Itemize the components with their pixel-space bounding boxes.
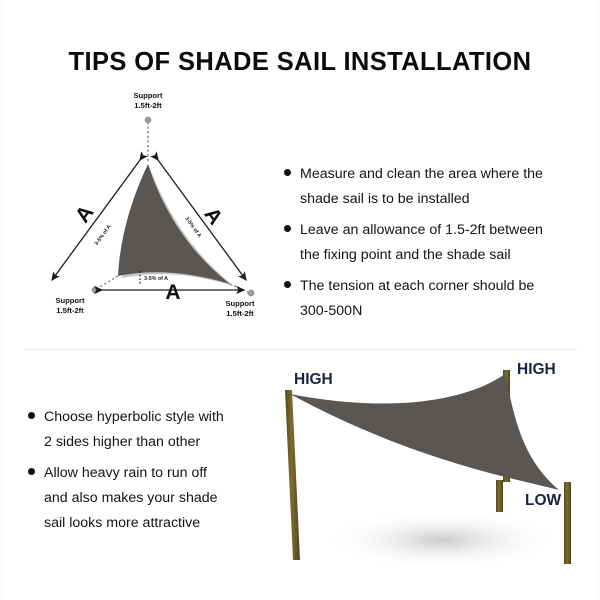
tip-text: Measure and clean the area where the sha… xyxy=(300,162,543,212)
left-edge-curve-note: 3-5% of A xyxy=(94,224,113,247)
right-edge-curve-note: 3-5% of A xyxy=(183,216,202,239)
label-high-left: HIGH xyxy=(294,371,333,388)
style-text: Choose hyperbolic style with 2 sides hig… xyxy=(44,405,224,455)
bullet-dot-icon xyxy=(284,225,291,232)
bottom-left-support-distance: 1.5ft-2ft xyxy=(56,306,84,315)
tip-text: Leave an allowance of 1.5-2ft between th… xyxy=(300,218,543,268)
list-item: Leave an allowance of 1.5-2ft between th… xyxy=(284,218,596,268)
bottom-edge-dimension-label: A xyxy=(165,281,180,304)
top-support-label: Support xyxy=(133,91,163,100)
page-left-edge xyxy=(0,0,3,600)
label-low: LOW xyxy=(525,492,562,509)
bullet-dot-icon xyxy=(28,412,35,419)
post-left xyxy=(285,390,300,560)
installation-tips-list: Measure and clean the area where the sha… xyxy=(284,162,596,330)
shade-sail-style-list: Choose hyperbolic style with 2 sides hig… xyxy=(28,405,278,542)
bottom-edge-curve-note: 3-5% of A xyxy=(144,276,168,282)
bottom-left-support-label: Support xyxy=(55,296,85,305)
bullet-dot-icon xyxy=(28,468,35,475)
bottom-right-support-label: Support xyxy=(225,299,255,308)
top-support-point xyxy=(145,117,152,124)
list-item: The tension at each corner should be 300… xyxy=(284,274,596,324)
bottom-left-support-drop-line xyxy=(98,276,118,288)
list-item: Choose hyperbolic style with 2 sides hig… xyxy=(28,405,278,455)
page-title: TIPS OF SHADE SAIL INSTALLATION xyxy=(0,48,600,77)
sail-surface xyxy=(290,374,559,490)
bottom-right-support-distance: 1.5ft-2ft xyxy=(226,309,254,318)
ground-shadow xyxy=(324,510,560,570)
top-support-distance: 1.5ft-2ft xyxy=(134,101,162,110)
list-item: Allow heavy rain to run off and also mak… xyxy=(28,461,278,536)
triangle-shade-sail-diagram: Support 1.5ft-2ft Support 1.5ft-2ft Supp… xyxy=(18,88,280,336)
label-high-right: HIGH xyxy=(517,361,556,378)
list-item: Measure and clean the area where the sha… xyxy=(284,162,596,212)
post-middle xyxy=(496,480,503,512)
bullet-dot-icon xyxy=(284,169,291,176)
section-divider xyxy=(24,349,578,350)
tip-text: The tension at each corner should be 300… xyxy=(300,274,534,324)
bottom-left-support-point xyxy=(92,287,99,294)
bottom-right-support-point xyxy=(248,290,255,297)
post-right xyxy=(564,482,571,564)
right-edge-dimension-label: A xyxy=(199,203,227,229)
hyperbolic-sail-diagram: HIGH HIGH LOW xyxy=(272,352,594,592)
bullet-dot-icon xyxy=(284,281,291,288)
style-text: Allow heavy rain to run off and also mak… xyxy=(44,461,218,536)
infographic-page: TIPS OF SHADE SAIL INSTALLATION Support … xyxy=(0,0,600,600)
